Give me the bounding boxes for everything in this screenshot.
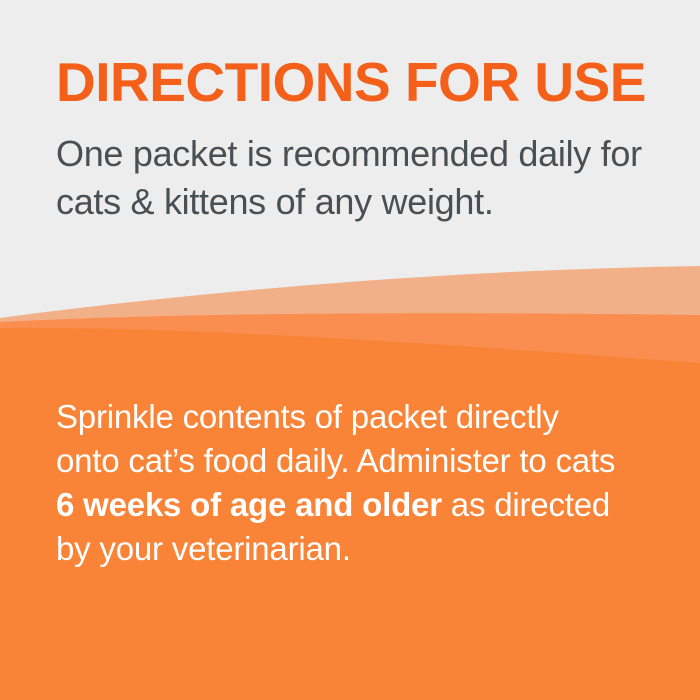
directions-text-emphasis: 6 weeks of age and older bbox=[56, 486, 442, 523]
directions-text-part1: Sprinkle contents of packet directly ont… bbox=[56, 398, 615, 479]
page-title: DIRECTIONS FOR USE bbox=[56, 52, 646, 112]
directions-for-use-label: DIRECTIONS FOR USE One packet is recomme… bbox=[0, 0, 700, 700]
directions-text: Sprinkle contents of packet directly ont… bbox=[56, 395, 616, 571]
intro-text: One packet is recommended daily for cats… bbox=[56, 130, 656, 226]
